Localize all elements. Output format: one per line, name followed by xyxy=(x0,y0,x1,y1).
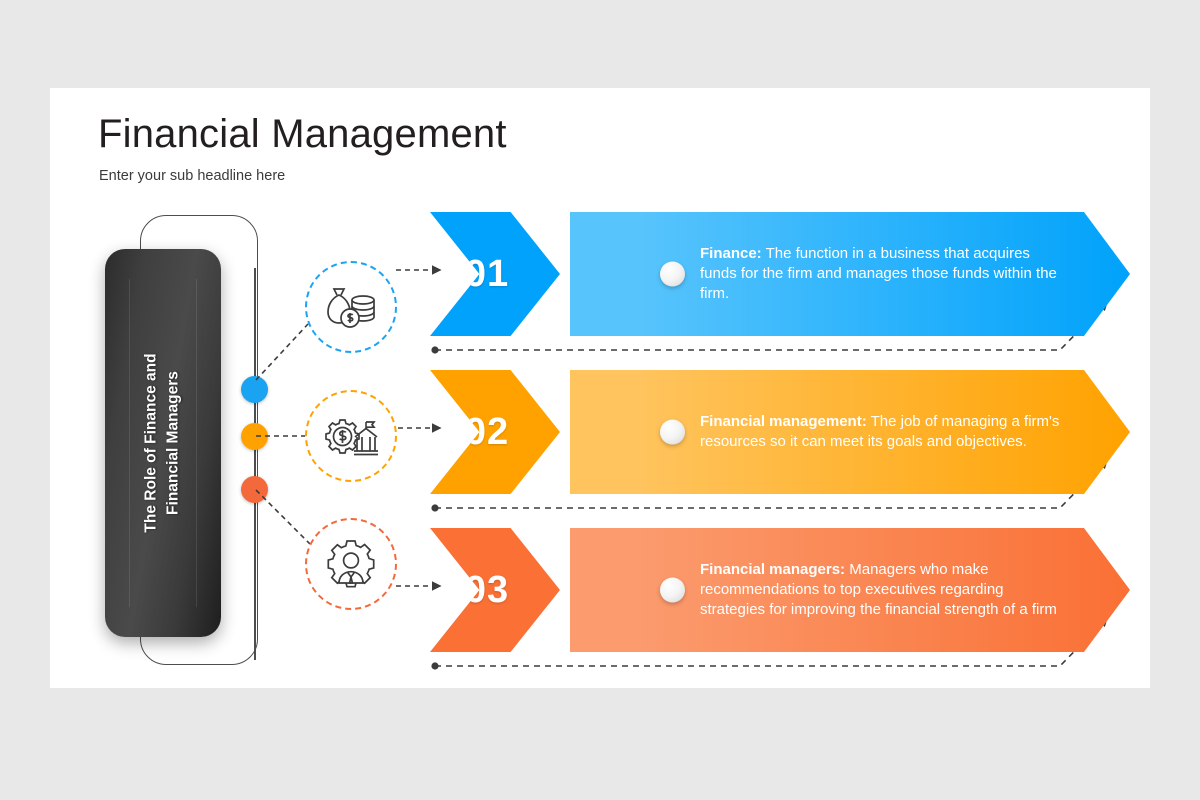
bullet-dot-2 xyxy=(660,420,685,445)
arrow-head-2: 02 xyxy=(430,370,560,494)
slide-canvas: Financial Management Enter your sub head… xyxy=(50,88,1150,688)
arrow-row-2: 02 Financial management: The job of mana… xyxy=(50,370,1150,494)
arrow-body-2[interactable]: Financial management: The job of managin… xyxy=(570,370,1130,494)
arrow-row-3: 03 Financial managers: Managers who make… xyxy=(50,528,1150,652)
row-copy-2: Financial management: The job of managin… xyxy=(700,412,1060,452)
arrow-head-1: 01 xyxy=(430,212,560,336)
row-copy-1: Finance: The function in a business that… xyxy=(700,244,1060,304)
step-number-1: 01 xyxy=(465,253,509,296)
arrow-head-3: 03 xyxy=(430,528,560,652)
arrow-row-1: 01 Finance: The function in a business t… xyxy=(50,212,1150,336)
bullet-dot-3 xyxy=(660,578,685,603)
step-number-3: 03 xyxy=(465,569,509,612)
row-heading-3: Financial managers: xyxy=(700,561,845,578)
row-heading-1: Finance: xyxy=(700,245,762,262)
step-number-2: 02 xyxy=(465,411,509,454)
arrow-body-1[interactable]: Finance: The function in a business that… xyxy=(570,212,1130,336)
row-heading-2: Financial management: xyxy=(700,413,867,430)
row-copy-3: Financial managers: Managers who make re… xyxy=(700,560,1060,620)
bullet-dot-1 xyxy=(660,262,685,287)
arrow-body-3[interactable]: Financial managers: Managers who make re… xyxy=(570,528,1130,652)
